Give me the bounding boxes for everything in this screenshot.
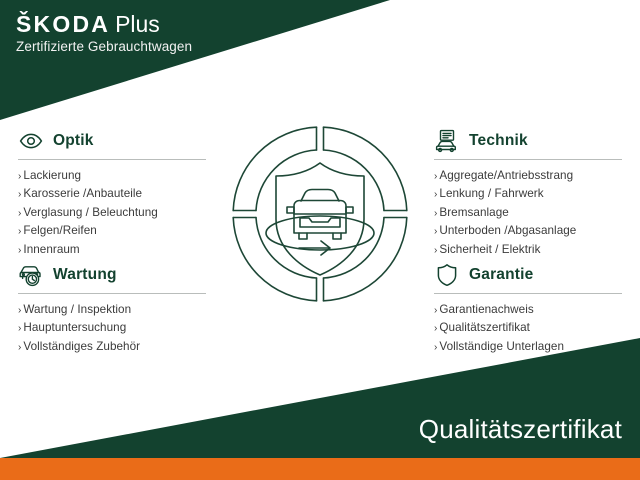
list-item: ›Vollständige Unterlagen xyxy=(434,338,630,356)
section-optik-divider xyxy=(18,159,206,160)
list-item: ›Lenkung / Fahrwerk xyxy=(434,185,630,203)
chevron-right-icon: › xyxy=(434,208,437,219)
section-garantie-header: Garantie xyxy=(434,262,630,288)
list-item-label: Qualitätszertifikat xyxy=(439,321,530,334)
section-garantie-list: ›Garantienachweis ›Qualitätszertifikat ›… xyxy=(434,301,630,356)
list-item-label: Lackierung xyxy=(23,169,81,182)
list-item-label: Felgen/Reifen xyxy=(23,224,96,237)
section-technik-list: ›Aggregate/Antriebsstrang ›Lenkung / Fah… xyxy=(434,167,630,259)
orbit-arrow xyxy=(299,241,330,255)
section-garantie: Garantie ›Garantienachweis ›Qualitätszer… xyxy=(434,262,630,356)
list-item-label: Aggregate/Antriebsstrang xyxy=(439,169,573,182)
chevron-right-icon: › xyxy=(18,305,21,316)
chevron-right-icon: › xyxy=(18,245,21,256)
list-item-label: Bremsanlage xyxy=(439,206,508,219)
list-item-label: Hauptuntersuchung xyxy=(23,321,126,334)
chevron-right-icon: › xyxy=(18,189,21,200)
car-clock-icon xyxy=(18,263,44,287)
car-lift-icon xyxy=(434,129,460,153)
list-item-label: Wartung / Inspektion xyxy=(23,303,131,316)
section-wartung-divider xyxy=(18,293,206,294)
list-item: ›Felgen/Reifen xyxy=(18,222,214,240)
section-technik-header: Technik xyxy=(434,128,630,154)
list-item: ›Sicherheit / Elektrik xyxy=(434,241,630,259)
brand-lockup: ŠKODAPlus Zertifizierte Gebrauchtwagen xyxy=(16,11,192,55)
shield-icon xyxy=(434,263,460,287)
list-item: ›Lackierung xyxy=(18,167,214,185)
chevron-right-icon: › xyxy=(434,189,437,200)
section-optik-list: ›Lackierung ›Karosserie /Anbauteile ›Ver… xyxy=(18,167,214,259)
list-item-label: Verglasung / Beleuchtung xyxy=(23,206,157,219)
section-optik-header: Optik xyxy=(18,128,214,154)
list-item: ›Verglasung / Beleuchtung xyxy=(18,204,214,222)
list-item-label: Garantienachweis xyxy=(439,303,533,316)
list-item: ›Innenraum xyxy=(18,241,214,259)
list-item: ›Hauptuntersuchung xyxy=(18,319,214,337)
chevron-right-icon: › xyxy=(434,226,437,237)
section-wartung-title: Wartung xyxy=(53,266,117,284)
chevron-right-icon: › xyxy=(434,245,437,256)
section-wartung-header: Wartung xyxy=(18,262,214,288)
section-technik-title: Technik xyxy=(469,132,528,150)
accent-bar xyxy=(0,458,640,480)
chevron-right-icon: › xyxy=(434,305,437,316)
section-garantie-title: Garantie xyxy=(469,266,534,284)
section-technik-divider xyxy=(434,159,622,160)
section-optik: Optik ›Lackierung ›Karosserie /Anbauteil… xyxy=(18,128,214,259)
chevron-right-icon: › xyxy=(18,171,21,182)
list-item-label: Unterboden /Abgasanlage xyxy=(439,224,576,237)
list-item: ›Unterboden /Abgasanlage xyxy=(434,222,630,240)
list-item: ›Wartung / Inspektion xyxy=(18,301,214,319)
list-item: ›Vollständiges Zubehör xyxy=(18,338,214,356)
brand-name-plus: Plus xyxy=(115,11,160,37)
section-optik-title: Optik xyxy=(53,132,94,150)
chevron-right-icon: › xyxy=(434,323,437,334)
brand-name-skoda: ŠKODA xyxy=(16,11,110,37)
chevron-right-icon: › xyxy=(18,342,21,353)
section-wartung: Wartung ›Wartung / Inspektion ›Hauptunte… xyxy=(18,262,214,356)
list-item-label: Innenraum xyxy=(23,243,79,256)
certified-vehicle-emblem xyxy=(229,123,411,305)
list-item-label: Karosserie /Anbauteile xyxy=(23,187,142,200)
list-item: ›Garantienachweis xyxy=(434,301,630,319)
list-item-label: Sicherheit / Elektrik xyxy=(439,243,540,256)
list-item: ›Qualitätszertifikat xyxy=(434,319,630,337)
eye-icon xyxy=(18,129,44,153)
car-front-icon xyxy=(287,190,353,240)
section-technik: Technik ›Aggregate/Antriebsstrang ›Lenku… xyxy=(434,128,630,259)
list-item-label: Vollständiges Zubehör xyxy=(23,340,140,353)
list-item-label: Vollständige Unterlagen xyxy=(439,340,564,353)
brand-title: ŠKODAPlus xyxy=(16,11,192,37)
brand-tagline: Zertifizierte Gebrauchtwagen xyxy=(16,38,192,55)
chevron-right-icon: › xyxy=(18,323,21,334)
certificate-page: ŠKODAPlus Zertifizierte Gebrauchtwagen xyxy=(0,0,640,480)
footer-title: Qualitätszertifikat xyxy=(419,414,622,444)
chevron-right-icon: › xyxy=(18,208,21,219)
chevron-right-icon: › xyxy=(18,226,21,237)
list-item-label: Lenkung / Fahrwerk xyxy=(439,187,543,200)
list-item: ›Aggregate/Antriebsstrang xyxy=(434,167,630,185)
section-garantie-divider xyxy=(434,293,622,294)
chevron-right-icon: › xyxy=(434,342,437,353)
list-item: ›Karosserie /Anbauteile xyxy=(18,185,214,203)
list-item: ›Bremsanlage xyxy=(434,204,630,222)
chevron-right-icon: › xyxy=(434,171,437,182)
section-wartung-list: ›Wartung / Inspektion ›Hauptuntersuchung… xyxy=(18,301,214,356)
